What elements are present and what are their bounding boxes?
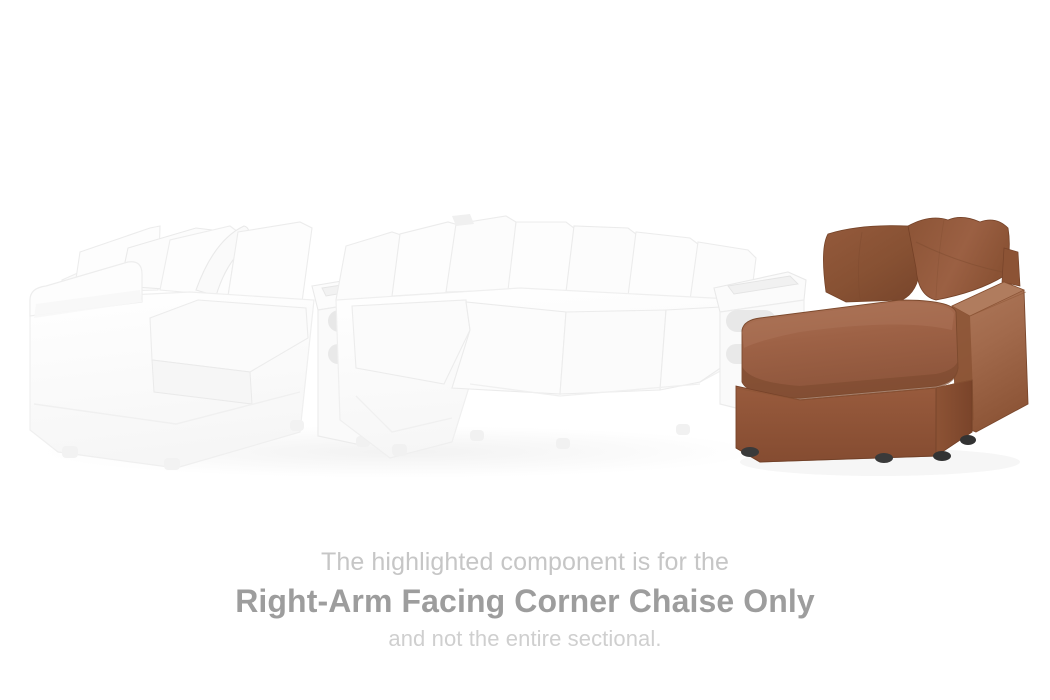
caption-line-component-name: Right-Arm Facing Corner Chaise Only: [0, 579, 1050, 623]
caption-block: The highlighted component is for the Rig…: [0, 545, 1050, 655]
product-illustration: [0, 0, 1050, 520]
caption-line-disclaimer: and not the entire sectional.: [0, 623, 1050, 655]
chaise-foot-front-right: [875, 453, 893, 463]
chaise-foot-rear-right: [960, 435, 976, 445]
chaise-back-cushion-left: [823, 226, 920, 302]
caption-line-intro: The highlighted component is for the: [0, 545, 1050, 579]
chaise-back-ledge: [1002, 248, 1020, 286]
ghosted-sectional: [30, 214, 806, 478]
chaise-foot-mid: [933, 451, 951, 461]
sectional-sofa-diagram: [0, 0, 1050, 520]
chaise-foot-front-left: [741, 447, 759, 457]
